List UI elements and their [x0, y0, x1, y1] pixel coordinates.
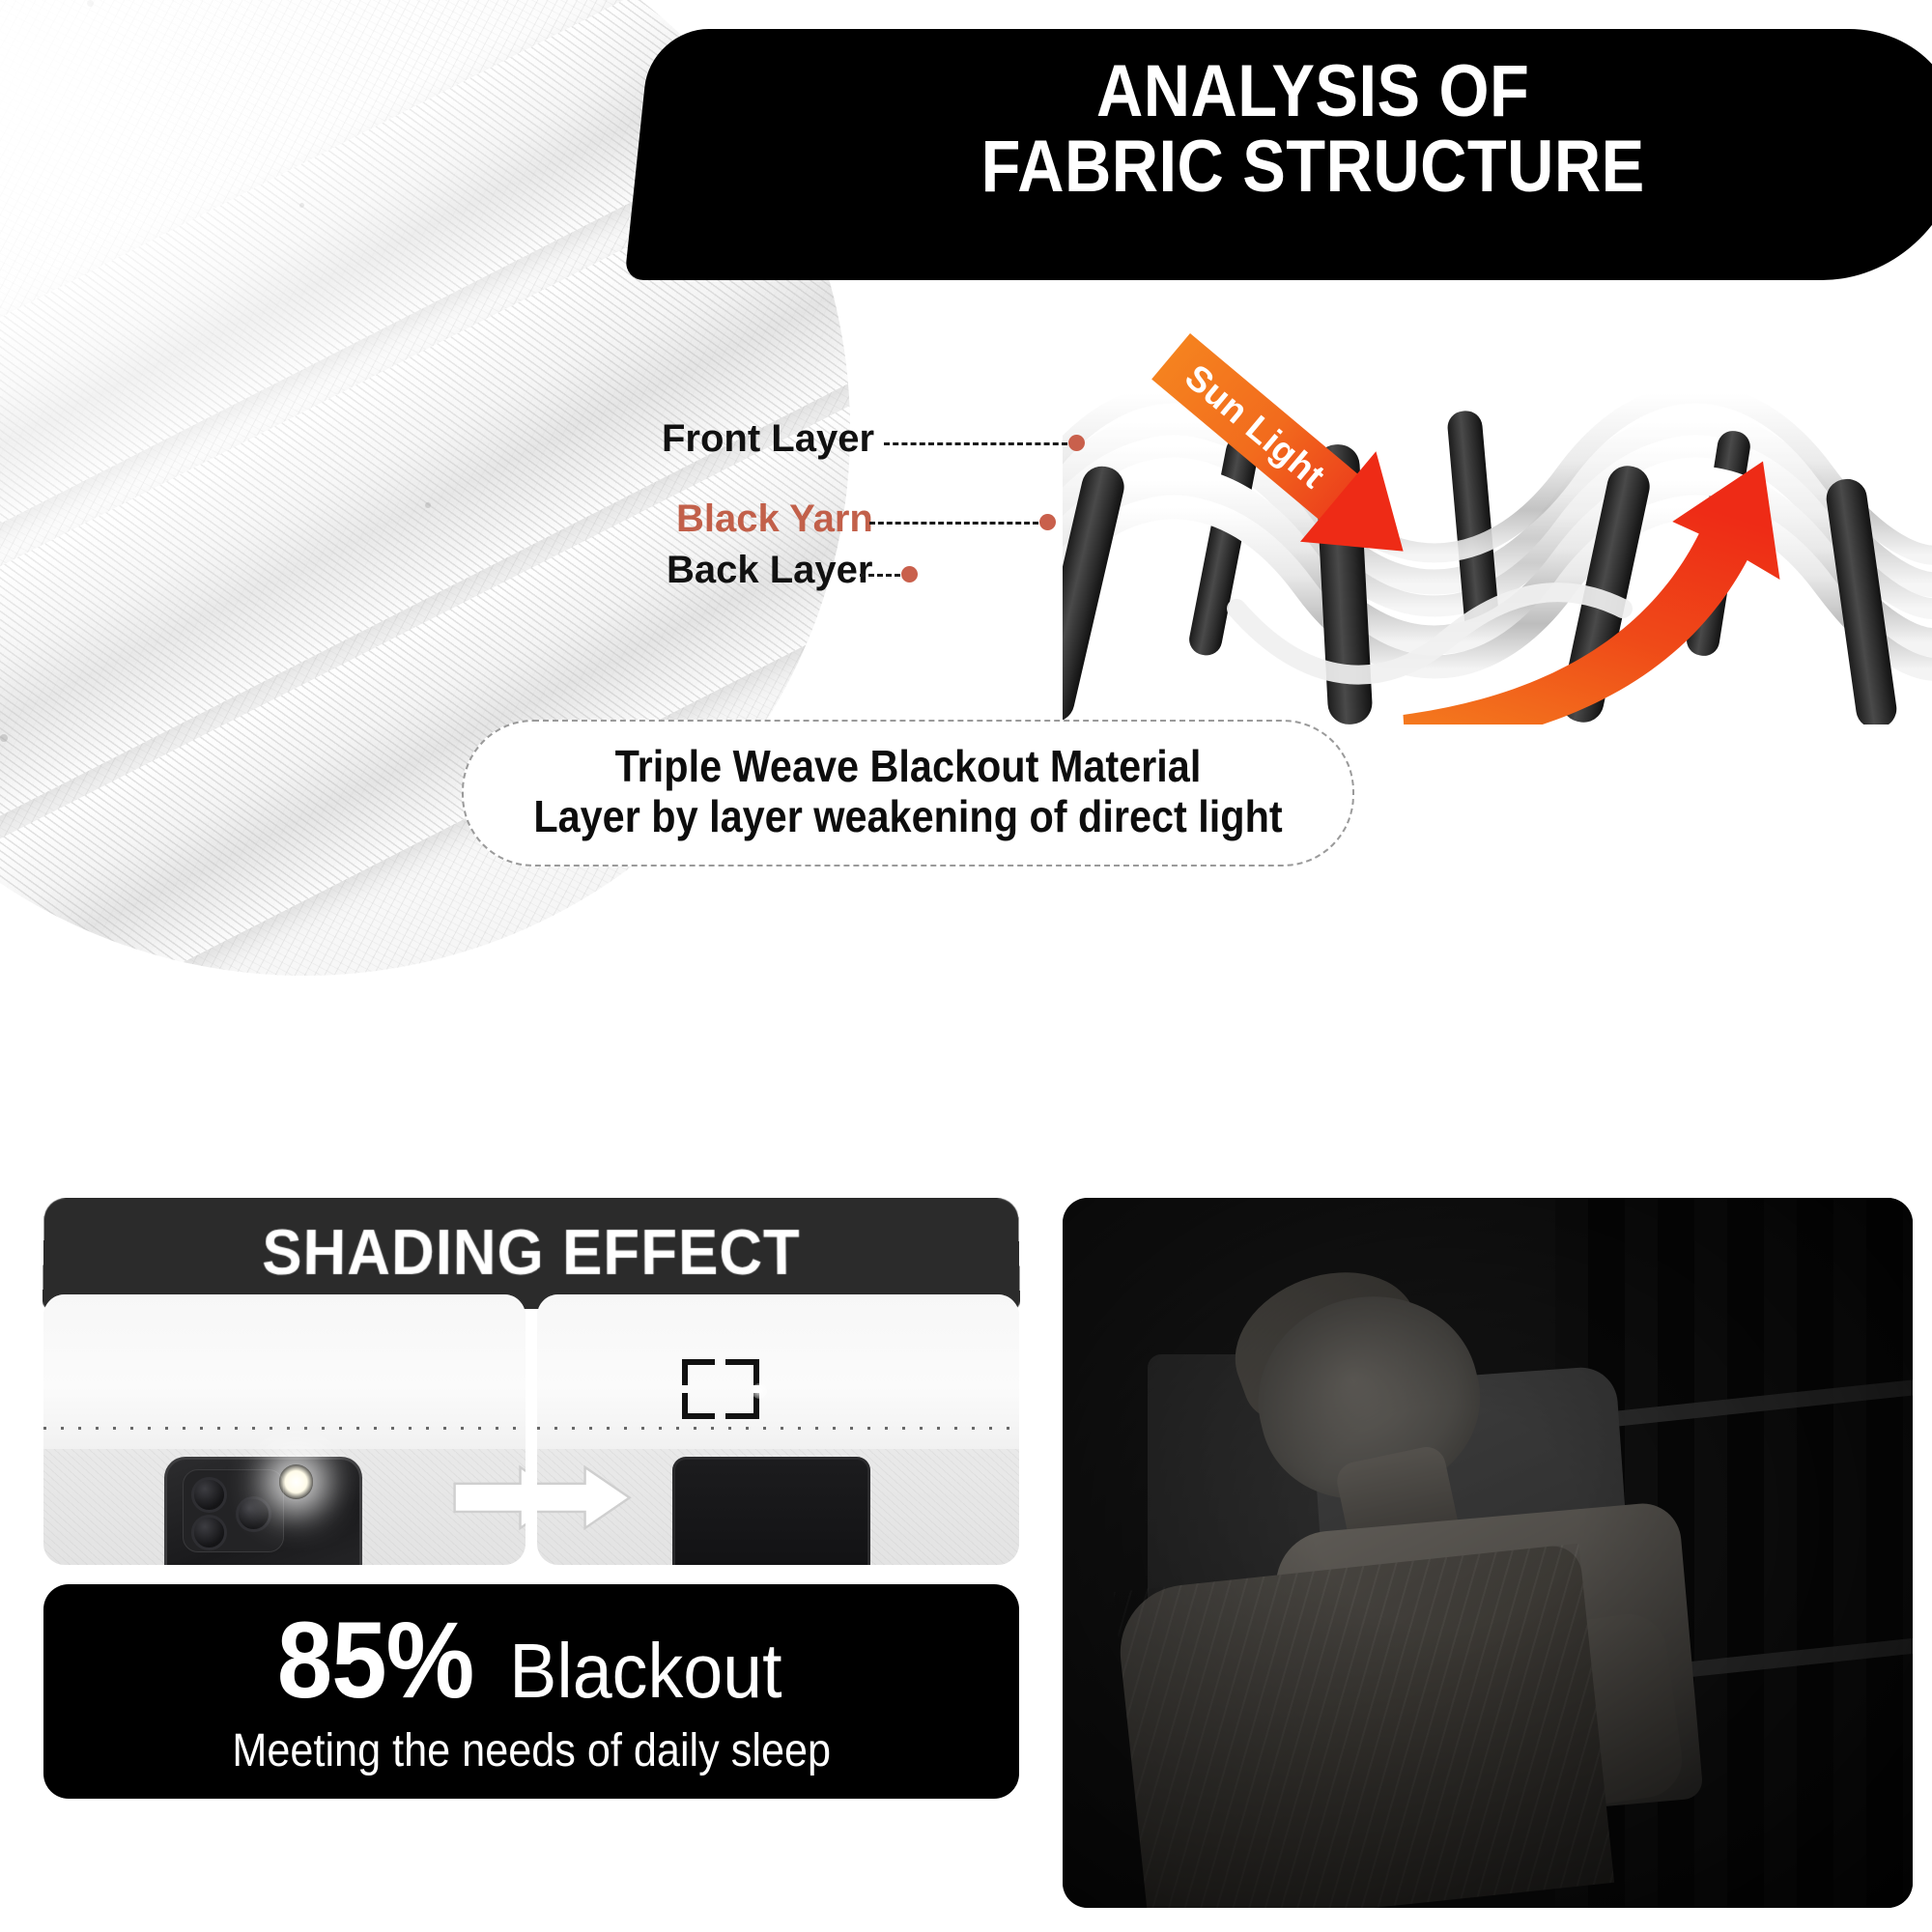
section-title-banner: ANALYSIS OF FABRIC STRUCTURE	[624, 29, 1932, 280]
shading-effect-section: SHADING EFFECT	[0, 1198, 1932, 1932]
page-title-line1: ANALYSIS OF	[799, 54, 1828, 129]
curtain-stitch-line-left	[43, 1427, 526, 1430]
photo-darkening-overlay	[1063, 1198, 1913, 1908]
caption-line1: Triple Weave Blackout Material	[508, 741, 1308, 791]
sleeping-woman-photo	[1063, 1198, 1913, 1908]
shading-effect-header: SHADING EFFECT	[43, 1198, 1020, 1309]
material-caption-box: Triple Weave Blackout Material Layer by …	[462, 720, 1354, 867]
label-back-layer: Back Layer	[667, 549, 872, 592]
blackout-stat-bar: 85%Blackout Meeting the needs of daily s…	[43, 1584, 1019, 1799]
focus-bracket-icon	[682, 1359, 759, 1419]
panel-light-blocked	[537, 1294, 1019, 1565]
caption-line2: Layer by layer weakening of direct light	[508, 791, 1308, 841]
phone-camera-module	[183, 1469, 285, 1552]
transition-arrow-icon	[439, 1463, 526, 1533]
leader-line-front-layer	[884, 442, 1067, 445]
leader-dot-front-layer	[1068, 435, 1085, 451]
phone-with-flashlight	[164, 1457, 363, 1565]
leader-line-back-layer	[860, 574, 900, 577]
panel-light-on	[43, 1294, 526, 1565]
camera-lens-icon	[236, 1496, 271, 1532]
blackout-percent: 85%	[277, 1606, 473, 1715]
curtain-fabric-right	[537, 1294, 1019, 1449]
blackout-stat-main: 85%Blackout	[269, 1606, 794, 1715]
fabric-structure-section: ANALYSIS OF FABRIC STRUCTURE	[0, 0, 1932, 1111]
camera-lens-icon	[191, 1515, 227, 1550]
phone-blocked-by-curtain	[672, 1457, 871, 1565]
flashlight-glow	[279, 1464, 314, 1499]
comparison-panels	[43, 1294, 1019, 1565]
transition-arrow-icon	[537, 1463, 643, 1533]
leader-line-black-yarn	[869, 522, 1038, 525]
curtain-stitch-line-right	[537, 1427, 1019, 1430]
leader-dot-back-layer	[901, 566, 918, 582]
curtain-fabric-left	[43, 1294, 526, 1449]
label-front-layer: Front Layer	[662, 417, 874, 461]
label-black-yarn: Black Yarn	[676, 497, 873, 541]
page-title-line2: FABRIC STRUCTURE	[799, 129, 1828, 205]
camera-lens-icon	[191, 1477, 227, 1513]
leader-dot-black-yarn	[1039, 514, 1056, 530]
blackout-word: Blackout	[509, 1633, 781, 1710]
blackout-subtitle: Meeting the needs of daily sleep	[232, 1724, 831, 1777]
shading-effect-title: SHADING EFFECT	[71, 1198, 990, 1306]
infographic-stage: ANALYSIS OF FABRIC STRUCTURE	[0, 0, 1932, 1932]
